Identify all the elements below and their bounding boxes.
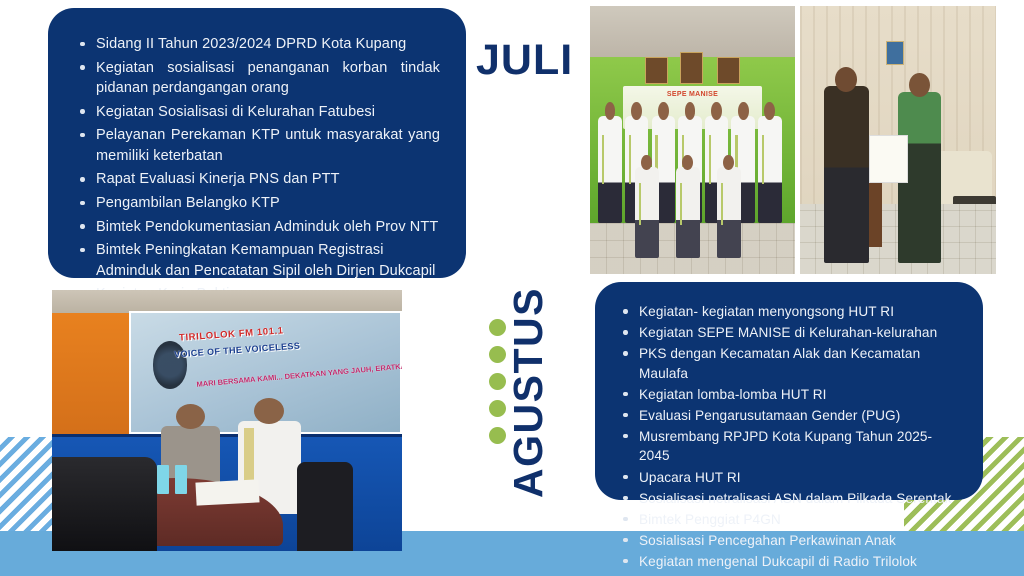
photo-office-chair (297, 462, 353, 551)
photo-group-content: SEPE MANISE (590, 6, 795, 274)
photo-person-man (824, 86, 869, 263)
photo-certificate-document (869, 135, 908, 183)
photo-person (598, 116, 622, 223)
list-item: Kegiatan sosialisasi penanganan korban t… (78, 58, 440, 99)
list-item: PKS dengan Kecamatan Alak dan Kecamatan … (621, 344, 965, 383)
green-dot-icon (489, 400, 506, 417)
list-item: Kegiatan SEPE MANISE di Kelurahan-kelura… (621, 323, 965, 343)
agustus-activity-list: Kegiatan- kegiatan menyongsong HUT RI Ke… (595, 282, 983, 576)
photo-water-bottle (175, 465, 187, 494)
list-item: Sosialisasi netralisasi ASN dalam Pilkad… (621, 489, 965, 509)
photo-document-handover (800, 6, 996, 274)
photo-ceiling (590, 6, 795, 57)
list-item: Kegiatan- kegiatan menyongsong HUT RI (621, 302, 965, 322)
list-item: Kegiatan Sosialisasi di Kelurahan Fatube… (78, 102, 440, 123)
month-title-agustus-text: AGUSTUS (505, 287, 552, 498)
list-item: Bimtek Peningkatan Kemampuan Registrasi … (78, 240, 440, 281)
photo-person-seated (676, 167, 700, 258)
list-item: Evaluasi Pengarusutamaan Gender (PUG) (621, 406, 965, 426)
juli-activity-list: Sidang II Tahun 2023/2024 DPRD Kota Kupa… (48, 8, 466, 322)
photo-person-seated (635, 167, 659, 258)
list-item: Upacara HUT RI (621, 468, 965, 488)
list-item: Musrembang RPJPD Kota Kupang Tahun 2025-… (621, 427, 965, 466)
juli-activities-card: Sidang II Tahun 2023/2024 DPRD Kota Kupa… (48, 8, 466, 278)
photo-group-sepe-manise: SEPE MANISE (590, 6, 795, 274)
photo-water-bottle (157, 465, 169, 494)
photo-radio-content: TIRILOLOK FM 101.1 VOICE OF THE VOICELES… (52, 290, 402, 551)
green-dot-icon (489, 373, 506, 390)
list-item: Pengambilan Belangko KTP (78, 193, 440, 214)
list-item: Bimtek Penggiat P4GN (621, 510, 965, 530)
photo-camera-rig (52, 457, 157, 551)
radio-banner-line1: TIRILOLOK FM 101.1 (179, 326, 284, 344)
list-item: Sosialisasi Pencegahan Perkawinan Anak (621, 531, 965, 551)
photo-orange-wall (52, 313, 136, 433)
list-item: Bimtek Pendokumentasian Adminduk oleh Pr… (78, 217, 440, 238)
radio-banner-line3: MARI BERSAMA KAMI... DEKATKAN YANG JAUH,… (196, 356, 402, 391)
decor-green-dot-column (489, 319, 506, 444)
photo-papers (195, 479, 259, 506)
photo-person-seated (717, 167, 741, 258)
photo-handover-content (800, 6, 996, 274)
list-item: Kegiatan lomba-lomba HUT RI (621, 385, 965, 405)
photo-person (758, 116, 782, 223)
wall-portrait-icon (717, 57, 740, 84)
photo-radio-studio: TIRILOLOK FM 101.1 VOICE OF THE VOICELES… (52, 290, 402, 551)
wall-emblem-icon (680, 52, 703, 84)
green-dot-icon (489, 319, 506, 336)
list-item: Pelayanan Perekaman KTP untuk masyarakat… (78, 125, 440, 166)
list-item: Sidang II Tahun 2023/2024 DPRD Kota Kupa… (78, 34, 440, 55)
agustus-activities-card: Kegiatan- kegiatan menyongsong HUT RI Ke… (595, 282, 983, 500)
radio-banner-line2: VOICE OF THE VOICELESS (174, 341, 301, 360)
list-item: Kegiatan mengenal Dukcapil di Radio Tril… (621, 552, 965, 572)
wall-portrait-icon (645, 57, 668, 84)
list-item: Rapat Evaluasi Kinerja PNS dan PTT (78, 169, 440, 190)
green-dot-icon (489, 346, 506, 363)
wall-picture-icon (886, 41, 904, 65)
green-dot-icon (489, 427, 506, 444)
month-title-juli: JULI (476, 36, 573, 85)
photo-banner-title: SEPE MANISE (623, 91, 762, 98)
